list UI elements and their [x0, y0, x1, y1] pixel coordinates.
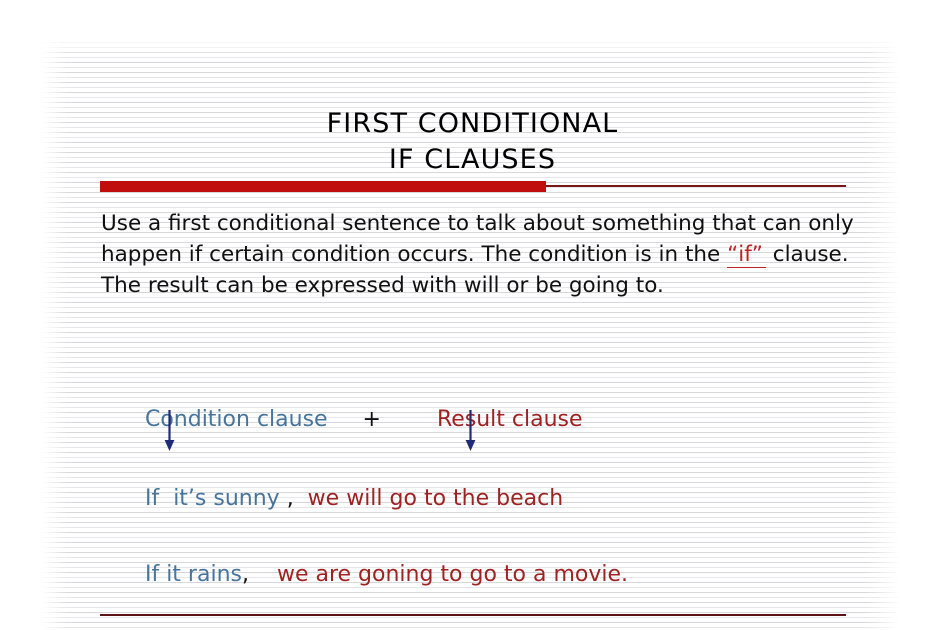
- divider-thick-bar: [100, 181, 546, 192]
- slide-title: FIRST CONDITIONAL IF CLAUSES: [100, 106, 845, 178]
- clause-gap-2: [381, 407, 437, 432]
- title-divider: [100, 181, 846, 193]
- if-keyword-highlight: “if”: [727, 242, 766, 268]
- clause-gap-1: [328, 407, 363, 432]
- divider-thin-line: [546, 185, 846, 187]
- slide-content: FIRST CONDITIONAL IF CLAUSES Use a first…: [0, 0, 942, 630]
- body-text-part-1: Use a first conditional sentence to talk…: [101, 211, 592, 236]
- arrow-down-icon-result: [464, 410, 477, 452]
- example-2-condition: If it rains: [145, 562, 242, 587]
- example-1-separator: ,: [287, 486, 301, 511]
- footer-divider: [100, 614, 846, 616]
- plus-sign: +: [363, 407, 381, 432]
- example-2-result: we are goning to go to a movie.: [249, 562, 628, 587]
- result-clause-label: Result clause: [437, 407, 583, 432]
- body-paragraph: Use a first conditional sentence to talk…: [101, 208, 861, 301]
- clause-header-row: Condition clause + Result clause: [103, 378, 803, 462]
- example-sentence-2: If it rains, we are goning to go to a mo…: [103, 530, 628, 620]
- title-line-1: FIRST CONDITIONAL: [100, 106, 845, 142]
- example-1-result: we will go to the beach: [301, 486, 563, 511]
- title-line-2: IF CLAUSES: [100, 142, 845, 178]
- example-1-condition: If it’s sunny: [145, 486, 287, 511]
- slide-canvas: FIRST CONDITIONAL IF CLAUSES Use a first…: [0, 0, 942, 630]
- example-2-separator: ,: [242, 562, 249, 587]
- arrow-down-icon-condition: [163, 410, 176, 452]
